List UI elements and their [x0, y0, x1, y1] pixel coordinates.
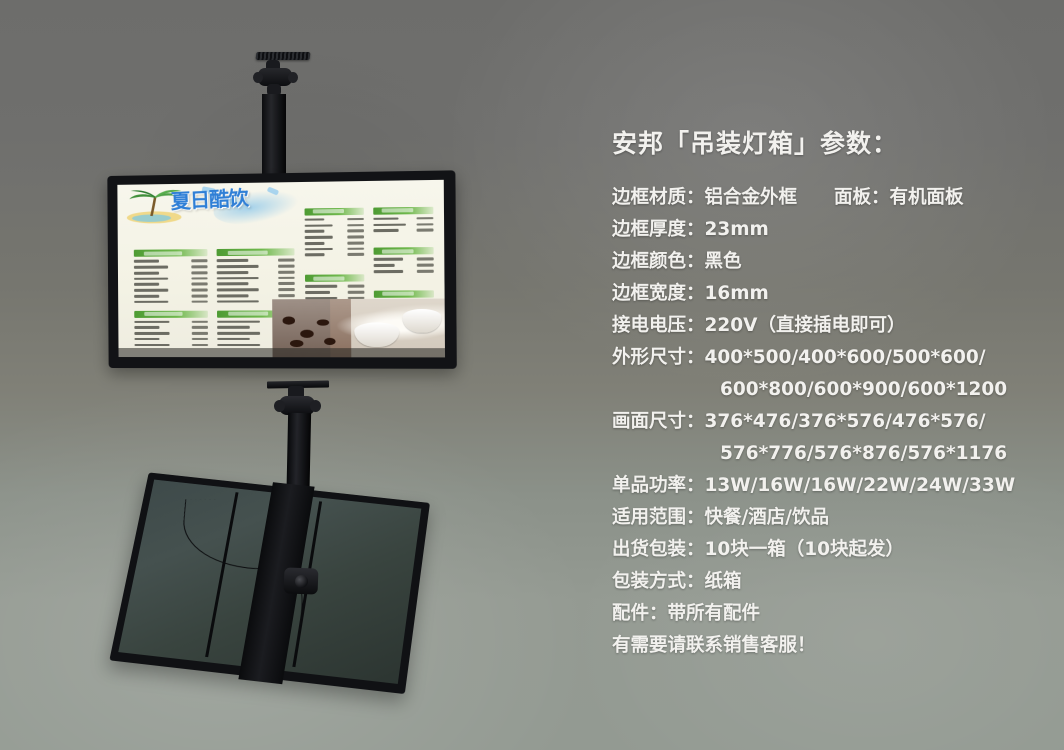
menu-item-price [279, 282, 296, 285]
menu-item-row [134, 319, 208, 324]
menu-item-name [134, 272, 159, 275]
spec-value: 带所有配件 [668, 598, 761, 630]
menu-item-name [305, 230, 325, 233]
menu-item-row [305, 252, 364, 257]
mount-pivot-bolt-left [253, 72, 263, 83]
menu-item-price [348, 285, 365, 288]
lightbox-back [109, 472, 430, 694]
menu-title: 夏日酷饮 [171, 188, 249, 212]
menu-item-row [217, 281, 295, 286]
spec-value: 400*500/400*600/500*600/ [705, 342, 986, 374]
spec-label: 边框厚度： [612, 214, 705, 246]
menu-item-name [304, 218, 324, 221]
menu-section-right-2 [374, 207, 434, 235]
menu-section-left-2 [217, 249, 295, 306]
spec-line: 边框宽度：16mm [612, 278, 1042, 310]
section-header-bar [134, 249, 208, 257]
menu-item-row [134, 331, 208, 336]
menu-item-name [217, 283, 249, 286]
menu-item-price [278, 265, 295, 268]
menu-item-price [191, 326, 207, 329]
menu-item-name [217, 294, 249, 297]
menu-item-price [417, 217, 434, 220]
section-rows [134, 319, 208, 347]
menu-item-name [218, 344, 261, 347]
spec-value: 铝合金外框 面板：有机面板 [705, 182, 964, 214]
menu-item-row [374, 222, 434, 227]
spec-label: 单品功率： [612, 470, 705, 502]
section-rows [374, 216, 434, 233]
mount-pivot-bolt-left-lower [274, 400, 285, 412]
menu-item-name [134, 260, 159, 263]
menu-item-name [217, 300, 259, 303]
menu-item-row [305, 284, 364, 289]
spec-label: 出货包装： [612, 534, 705, 566]
spec-line: 边框颜色：黑色 [612, 246, 1042, 278]
spec-line: 包装方式：纸箱 [612, 566, 1042, 598]
spec-value: 220V（直接插电即可） [705, 310, 906, 342]
section-rows [304, 217, 364, 258]
specifications-list: 边框材质：铝合金外框 面板：有机面板边框厚度：23mm边框颜色：黑色边框宽度：1… [612, 182, 1042, 662]
menu-item-row [305, 290, 364, 295]
menu-section-left-1 [134, 249, 208, 305]
menu-item-name [305, 254, 325, 257]
menu-item-price [417, 264, 434, 267]
menu-item-price [192, 332, 208, 335]
menu-item-row [305, 246, 364, 251]
menu-section-right-1 [304, 207, 364, 258]
spec-line: 边框材质：铝合金外框 面板：有机面板 [612, 182, 1042, 214]
coffee-bean [324, 338, 336, 345]
menu-item-price [347, 224, 364, 227]
menu-item-name [374, 229, 399, 232]
menu-item-price [417, 258, 434, 261]
menu-item-name [305, 291, 330, 294]
menu-item-name [217, 259, 249, 262]
menu-item-price [278, 259, 295, 262]
section-header-bar [374, 290, 434, 297]
spec-value: 快餐/酒店/饮品 [705, 502, 830, 534]
menu-item-name [217, 332, 260, 335]
spec-line: 配件：带所有配件 [612, 598, 1042, 630]
menu-item-price [192, 344, 208, 347]
menu-item-price [191, 271, 207, 274]
menu-item-name [305, 248, 333, 251]
spec-value: 13W/16W/16W/22W/24W/33W [705, 470, 1016, 502]
spec-value: 10块一箱（10块起发） [705, 534, 905, 566]
spec-line: 适用范围：快餐/酒店/饮品 [612, 502, 1042, 534]
section-rows [374, 257, 434, 274]
menu-item-name [374, 264, 395, 267]
spec-value: 376*476/376*576/476*576/ [705, 406, 986, 438]
menu-item-row [134, 337, 208, 342]
specifications-title: 安邦「吊装灯箱」参数： [612, 124, 1042, 160]
ceiling-plate-icon [256, 52, 311, 60]
spec-label: 外形尺寸： [612, 342, 705, 374]
menu-item-name [134, 266, 168, 269]
coffee-bean [317, 319, 329, 326]
lightbox-front: 夏日酷饮 [107, 170, 456, 368]
menu-item-row [305, 240, 364, 245]
menu-item-row [304, 217, 363, 222]
menu-item-name [374, 223, 406, 226]
spec-line: 外形尺寸：400*500/400*600/500*600/ [612, 342, 1042, 374]
menu-item-price [279, 294, 296, 297]
menu-item-row [134, 299, 208, 304]
menu-item-price [417, 229, 434, 232]
menu-item-row [374, 216, 434, 221]
coffee-cup-front [354, 322, 399, 347]
menu-item-name [305, 285, 338, 288]
menu-item-name [217, 320, 260, 323]
menu-item-price [191, 289, 207, 292]
menu-item-row [304, 223, 363, 228]
spec-value: 黑色 [705, 246, 742, 278]
menu-item-name [217, 338, 250, 341]
spec-label: 边框颜色： [612, 246, 705, 278]
section-header-bar [134, 310, 208, 317]
spec-value: 16mm [705, 278, 769, 310]
spec-label: 适用范围： [612, 502, 705, 534]
mount-pivot-bolt-right [288, 72, 298, 83]
menu-item-name [217, 265, 259, 268]
menu-item-price [417, 223, 434, 226]
menu-item-price [417, 270, 434, 273]
spec-value: 576*776/576*876/576*1176 [720, 438, 1007, 470]
spec-value: 600*800/600*900/600*1200 [720, 374, 1007, 406]
menu-item-name [305, 242, 325, 245]
spec-label: 包装方式： [612, 566, 705, 598]
menu-item-price [192, 338, 208, 341]
menu-item-price [191, 265, 207, 268]
menu-item-price [347, 236, 364, 239]
menu-item-name [134, 344, 169, 347]
menu-item-price [347, 253, 364, 256]
menu-item-name [134, 295, 159, 298]
menu-item-name [134, 332, 169, 335]
spec-line: 600*800/600*900/600*1200 [612, 374, 1042, 406]
menu-item-name [134, 289, 168, 292]
spec-label: 接电电压： [612, 310, 705, 342]
menu-item-name [217, 326, 250, 329]
section-header-bar [217, 249, 295, 257]
spec-line: 有需要请联系销售客服！ [612, 630, 1042, 662]
spec-line: 单品功率：13W/16W/16W/22W/24W/33W [612, 470, 1042, 502]
menu-item-row [374, 269, 434, 274]
menu-artwork: 夏日酷饮 [117, 180, 445, 358]
section-header-bar [304, 207, 363, 215]
section-rows [134, 259, 208, 305]
menu-item-row [217, 287, 295, 292]
section-header-bar [305, 274, 364, 282]
spec-line: 画面尺寸：376*476/376*576/476*576/ [612, 406, 1042, 438]
menu-item-price [191, 320, 207, 323]
coffee-bean [283, 317, 295, 325]
menu-item-name [217, 288, 259, 291]
menu-item-row [134, 288, 208, 293]
section-header-bar [374, 207, 434, 215]
spec-label: 边框材质： [612, 182, 705, 214]
spec-value: 纸箱 [705, 566, 742, 598]
menu-item-price [191, 260, 207, 263]
menu-item-name [134, 283, 159, 286]
section-header-bar [374, 247, 434, 255]
spec-label: 边框宽度： [612, 278, 705, 310]
menu-item-row [374, 263, 434, 268]
menu-item-name [134, 326, 160, 329]
menu-item-row [134, 343, 208, 348]
menu-item-price [191, 277, 207, 280]
section-rows [217, 258, 295, 304]
spec-value: 23mm [705, 214, 769, 246]
menu-item-name [217, 277, 259, 280]
spec-label: 配件： [612, 598, 668, 630]
spec-line: 接电电压：220V（直接插电即可） [612, 310, 1042, 342]
menu-item-name [374, 270, 403, 273]
menu-item-row [374, 257, 434, 262]
menu-item-name [374, 217, 399, 220]
menu-item-price [347, 241, 364, 244]
menu-item-row [374, 228, 434, 233]
spec-line: 出货包装：10块一箱（10块起发） [612, 534, 1042, 566]
menu-item-row [217, 275, 295, 280]
menu-item-row [305, 234, 364, 239]
menu-item-price [348, 291, 365, 294]
spec-label: 画面尺寸： [612, 406, 705, 438]
menu-item-name [134, 301, 168, 304]
menu-item-price [278, 271, 295, 274]
lightbox-panel: 夏日酷饮 [117, 180, 445, 358]
menu-item-price [279, 276, 296, 279]
menu-item-row [134, 325, 208, 330]
menu-item-name [374, 258, 403, 261]
product-photo-canvas: 夏日酷饮 [0, 0, 1064, 750]
menu-item-row [134, 264, 208, 269]
menu-item-row [134, 282, 208, 287]
coffee-bean [300, 329, 314, 337]
menu-item-row [134, 294, 208, 299]
menu-item-price [347, 218, 364, 221]
menu-item-name [134, 277, 168, 280]
mount-swivel-bolt [295, 575, 308, 588]
mount-pivot-bolt-right-lower [310, 400, 321, 412]
menu-item-price [191, 283, 207, 286]
menu-item-name [217, 271, 249, 274]
menu-item-name [134, 320, 169, 323]
specifications-panel: 安邦「吊装灯箱」参数： 边框材质：铝合金外框 面板：有机面板边框厚度：23mm边… [612, 124, 1042, 662]
menu-item-price [347, 230, 364, 233]
menu-item-row [134, 270, 208, 275]
menu-item-price [347, 247, 364, 250]
coffee-bean [290, 340, 304, 348]
menu-hero: 夏日酷饮 [117, 182, 311, 247]
spec-label: 有需要请联系销售客服！ [612, 630, 816, 662]
menu-item-row [134, 276, 208, 281]
menu-section-left-3 [134, 310, 208, 348]
menu-item-name [304, 224, 332, 227]
spec-line: 边框厚度：23mm [612, 214, 1042, 246]
menu-item-name [305, 236, 333, 239]
menu-section-right-3 [374, 247, 434, 275]
menu-item-price [279, 288, 296, 291]
menu-footer-strip [119, 348, 446, 357]
menu-item-row [217, 270, 295, 275]
menu-item-row [305, 229, 364, 234]
spec-line: 576*776/576*876/576*1176 [612, 438, 1042, 470]
menu-item-row [134, 259, 208, 264]
menu-item-price [191, 295, 207, 298]
coffee-cup-back [403, 309, 442, 332]
menu-item-row [217, 293, 295, 298]
menu-item-row [217, 264, 295, 269]
menu-item-row [217, 258, 295, 263]
menu-item-name [134, 338, 160, 341]
menu-item-price [191, 300, 207, 303]
